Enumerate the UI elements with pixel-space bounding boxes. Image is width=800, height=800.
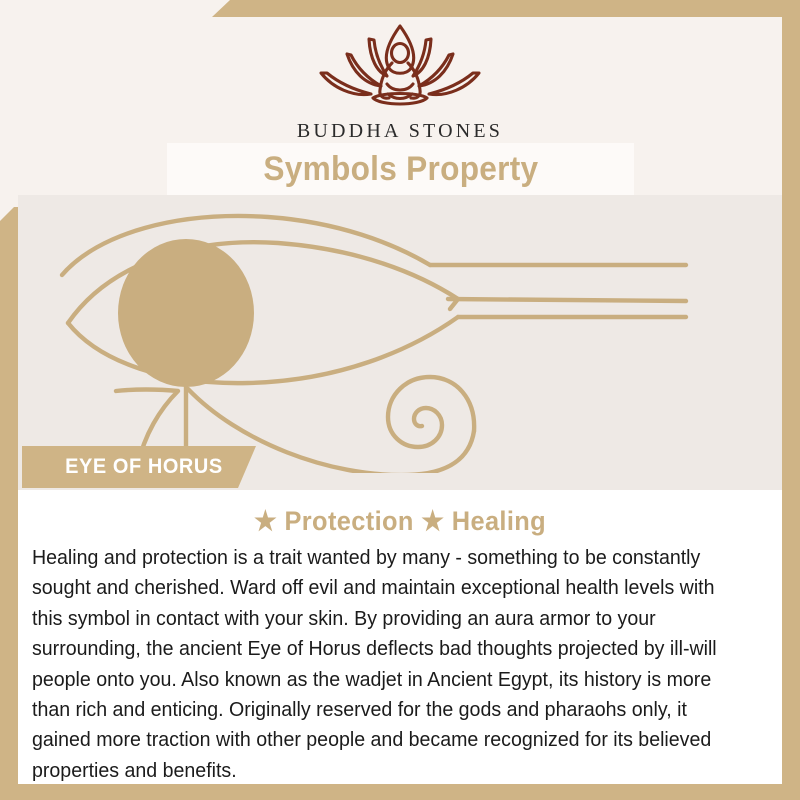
lotus-meditation-icon <box>307 18 493 118</box>
gold-frame-top <box>212 0 800 17</box>
page-title-band: Symbols Property <box>167 143 634 195</box>
symbol-name: EYE OF HORUS <box>27 455 223 479</box>
page-title: Symbols Property <box>263 150 538 189</box>
gold-frame-left <box>0 207 18 800</box>
symbol-name-banner: EYE OF HORUS <box>22 446 256 488</box>
brand-logo: BUDDHA STONES <box>0 18 800 143</box>
brand-wordmark: BUDDHA STONES <box>0 120 800 143</box>
content-area: ★ Protection ★ Healing Healing and prote… <box>18 490 782 784</box>
gold-frame-bottom <box>0 784 800 800</box>
illustration-panel <box>18 195 782 490</box>
eye-pupil <box>118 239 254 387</box>
eye-of-horus-icon <box>38 213 762 473</box>
infographic-card: BUDDHA STONES Symbols Property <box>0 0 800 800</box>
symbol-attributes: ★ Protection ★ Healing <box>41 506 759 537</box>
symbol-description: Healing and protection is a trait wanted… <box>32 543 748 786</box>
